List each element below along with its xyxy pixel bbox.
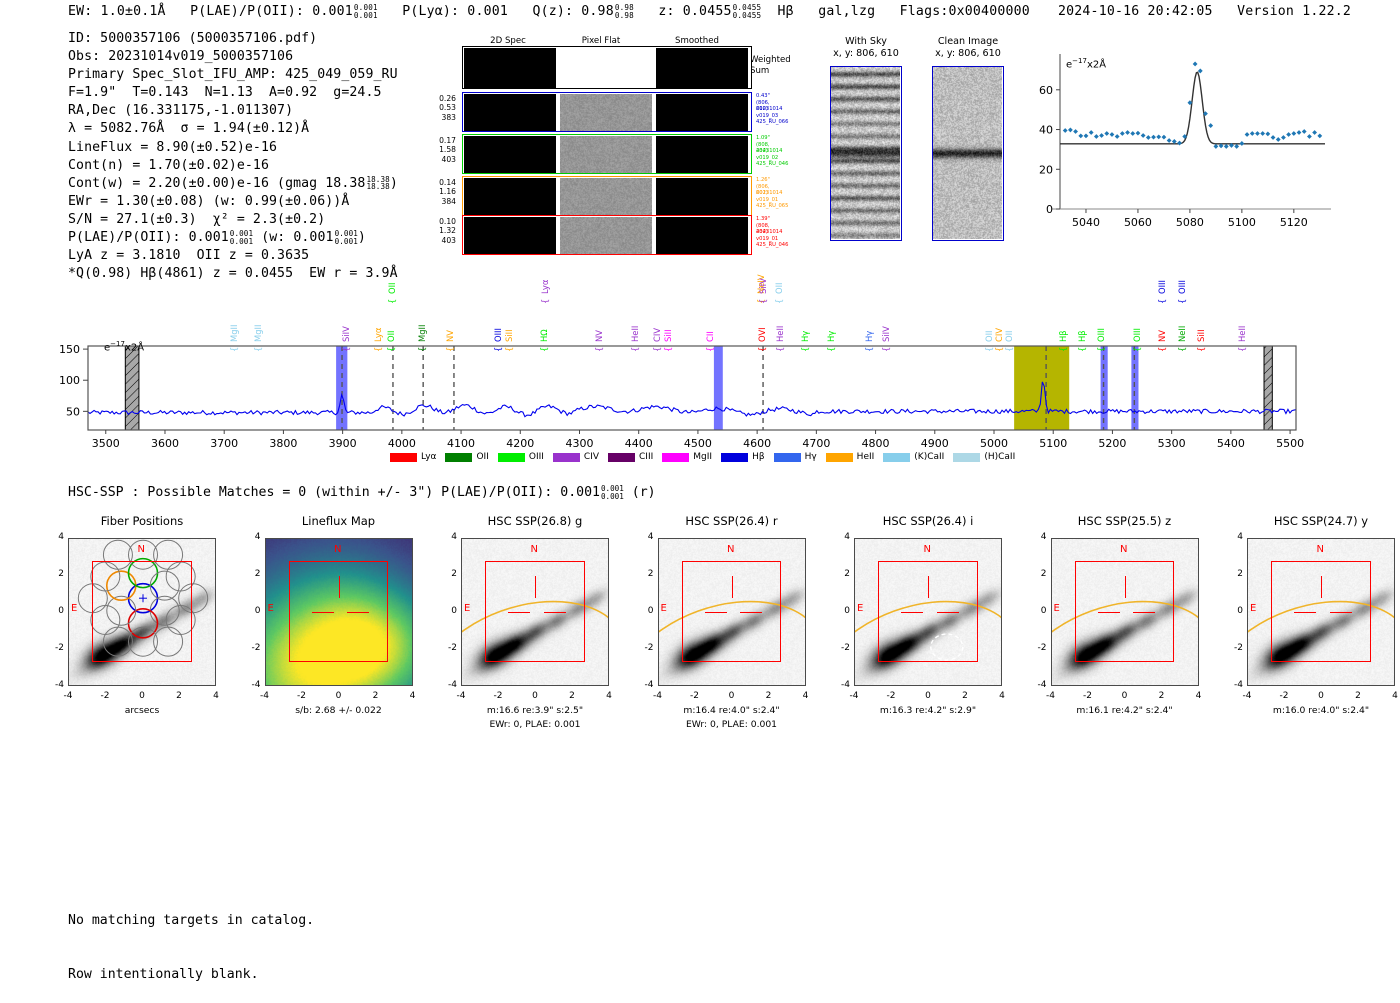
panel-xtick-5-2: -2 [881, 691, 901, 701]
panel-xtick-1-1: -4 [58, 691, 78, 701]
spectrum-line-label-16: SiII [663, 329, 673, 342]
exposure-smoothed-1 [656, 94, 748, 131]
panel-caption-2: s/b: 2.68 +/- 0.022 [239, 705, 439, 716]
svg-text:5200: 5200 [1098, 437, 1126, 450]
exposure-smoothed-2 [656, 136, 748, 173]
panel-ytick-6-3: 0 [1031, 606, 1047, 616]
info-plae-range: 0.0010.001 [230, 230, 253, 245]
info-seeing: F=1.9" T=0.143 N=1.13 A=0.92 g=24.5 [68, 84, 398, 102]
panel-north-label-2: N [334, 544, 341, 555]
spectrum-line-label-7: MgII [417, 325, 427, 342]
panel-ytick-3-5: -4 [441, 680, 457, 690]
panel-xtick-5-1: -4 [844, 691, 864, 701]
panel-ytick-6-1: 4 [1031, 532, 1047, 542]
panel-crosshair-h2-6 [1133, 612, 1155, 613]
svg-text:5000: 5000 [980, 437, 1008, 450]
spectrum-line-label-35: NV [1157, 330, 1167, 342]
svg-text:5100: 5100 [1228, 216, 1256, 229]
legend-label-2: OII [476, 452, 488, 462]
panel-ytick-1-3: 0 [48, 606, 64, 616]
exposure-tick-2-2: 1.58 [404, 145, 456, 154]
legend-swatch-7 [721, 453, 748, 462]
exposure-pixelflat-2 [560, 136, 652, 173]
exposure-meta-1-3: 20231014 [756, 106, 782, 112]
panel-crosshair-h2-7 [1330, 612, 1352, 613]
spectrum-line-label-23: Hγ [800, 331, 810, 342]
spectrum-line-label-36: OIII [1177, 280, 1187, 294]
panel-xtick-1-4: 2 [169, 691, 189, 701]
panel-title-4: HSC SSP(26.4) r [638, 514, 826, 528]
panel-north-label-4: N [727, 544, 734, 555]
spectrum-line-label-22: HeII [775, 326, 785, 342]
spectrum-line-brace-21: { [774, 299, 784, 304]
panel-ytick-5-2: 2 [834, 569, 850, 579]
panel-xtick-3-2: -2 [488, 691, 508, 701]
spectrum-line-brace-10: { [504, 347, 514, 352]
panel-xtick-2-5: 4 [403, 691, 423, 701]
panel-ytick-3-2: 2 [441, 569, 457, 579]
exposure-tick-4-1: 0.10 [404, 217, 456, 226]
spectrum-line-label-17: CII [705, 331, 715, 342]
cutout-title-1: With Sky [812, 36, 920, 47]
info-ewr: EWr = 1.30(±0.08) (w: 0.99(±0.06))Å [68, 193, 398, 211]
info-id: ID: 5000357106 (5000357106.pdf) [68, 30, 398, 48]
exposure-meta-4-4: v019_01 [756, 236, 778, 242]
legend-swatch-8 [774, 453, 801, 462]
spectrum-line-brace-34: { [1157, 299, 1167, 304]
spectrum-line-brace-17: { [705, 347, 715, 352]
panel-ytick-6-4: -2 [1031, 643, 1047, 653]
spectrum-line-brace-20: { [757, 347, 767, 352]
svg-text:50: 50 [66, 405, 80, 418]
panel-crosshair-v-5 [928, 576, 929, 598]
svg-text:4900: 4900 [921, 437, 949, 450]
cutout-subtitle-1: x, y: 806, 610 [812, 48, 920, 59]
hsc-header-band: (r) [632, 485, 656, 500]
cutout-title-2: Clean Image [914, 36, 1022, 47]
svg-text:5500: 5500 [1276, 437, 1304, 450]
spectrum-line-brace-36: { [1177, 299, 1187, 304]
panel-caption-5: m:16.3 re:4.2" s:2.9" [828, 705, 1028, 716]
exposure-meta-3-4: v019_01 [756, 197, 778, 203]
svg-text:3900: 3900 [329, 437, 357, 450]
panel-xtick-7-5: 4 [1385, 691, 1400, 701]
panel-xtick-4-4: 2 [759, 691, 779, 701]
header-meta: 2024-10-16 20:42:05 Version 1.22.2 [1058, 4, 1351, 19]
panel-crosshair-h1-7 [1294, 612, 1316, 613]
spec2d-col-title-3: Smoothed [652, 36, 742, 46]
panel-xtick-6-4: 2 [1152, 691, 1172, 701]
legend-label-9: HeII [857, 452, 875, 462]
spectrum-line-brace-31: { [1077, 347, 1087, 352]
spectrum-line-brace-35: { [1157, 347, 1167, 352]
panel-east-label-7: E [1250, 603, 1256, 614]
info-lineflux: LineFlux = 8.90(±0.52)e-16 [68, 139, 398, 157]
panel-ytick-3-4: -2 [441, 643, 457, 653]
panel-crosshair-v-2 [339, 576, 340, 598]
spec2d-col-title-1: 2D Spec [463, 36, 553, 46]
panel-xtick-3-5: 4 [599, 691, 619, 701]
legend-item-4: CIV [553, 452, 599, 462]
line-fit-svg: 020406050405060508051005120 [1020, 40, 1360, 250]
spectrum-line-brace-33: { [1132, 347, 1142, 352]
info-slot: Primary Spec_Slot_IFU_AMP: 425_049_059_R… [68, 66, 398, 84]
legend-swatch-2 [445, 453, 472, 462]
exposure-row-1 [462, 92, 752, 132]
target-info-block: ID: 5000357106 (5000357106.pdf) Obs: 202… [68, 30, 398, 283]
panel-ytick-1-2: 2 [48, 569, 64, 579]
svg-text:4200: 4200 [506, 437, 534, 450]
exposure-tick-1-1: 0.26 [404, 94, 456, 103]
panel-crosshair-h2-3 [544, 612, 566, 613]
spectrum-line-brace-22: { [775, 347, 785, 352]
spectrum-line-brace-4: { [373, 347, 383, 352]
legend-item-6: MgII [662, 452, 712, 462]
header-datetime: 2024-10-16 20:42:05 [1058, 4, 1213, 19]
spectrum-line-brace-30: { [1058, 347, 1068, 352]
panel-ytick-4-1: 4 [638, 532, 654, 542]
svg-text:3600: 3600 [151, 437, 179, 450]
spectrum-line-brace-28: { [994, 347, 1004, 352]
panel-caption-3: m:16.6 re:3.9" s:2.5" [435, 705, 635, 716]
panel-xtick-6-5: 4 [1189, 691, 1209, 701]
exposure-smoothed-4 [656, 217, 748, 254]
info-quality: *Q(0.98) Hβ(4861) z = 0.0455 EW r = 3.9Å [68, 265, 398, 283]
header-class: gal,lzg [818, 4, 875, 19]
exposure-smoothed-3 [656, 178, 748, 215]
svg-text:5120: 5120 [1280, 216, 1308, 229]
header-z-range: 0.04550.0455 [733, 4, 762, 19]
spectrum-line-label-30: Hβ [1058, 330, 1068, 342]
legend-label-8: Hγ [805, 452, 817, 462]
panel-xtick-2-2: -2 [292, 691, 312, 701]
footer-line-2: Row intentionally blank. [68, 966, 314, 984]
exposure-row-2 [462, 134, 752, 174]
header-plae-range: 0.0010.001 [354, 4, 378, 19]
exposure-tick-2-3: 403 [404, 155, 456, 164]
exposure-meta-3-5: 425_RU_065 [756, 203, 788, 209]
weighted-sum-image-1 [464, 48, 556, 88]
svg-text:4000: 4000 [388, 437, 416, 450]
svg-text:5300: 5300 [1158, 437, 1186, 450]
exposure-meta-2-1: 1.09" [756, 135, 770, 141]
footer-note: No matching targets in catalog. Row inte… [68, 876, 314, 1003]
panel-xtick-7-1: -4 [1237, 691, 1257, 701]
header-line-id: Hβ [778, 4, 794, 19]
panel-crosshair-h2-2 [347, 612, 369, 613]
panel-ytick-1-4: -2 [48, 643, 64, 653]
spectrum-line-brace-25: { [864, 347, 874, 352]
legend-label-10: (K)CaII [914, 452, 944, 462]
legend-swatch-10 [883, 453, 910, 462]
legend-label-6: MgII [693, 452, 712, 462]
header-qz: Q(z): 0.98 [532, 4, 613, 19]
legend-item-10: (K)CaII [883, 452, 944, 462]
spectrum-line-brace-7: { [417, 347, 427, 352]
info-lambda: λ = 5082.76Å σ = 1.94(±0.12)Å [68, 120, 398, 138]
panel-xtick-1-5: 4 [206, 691, 226, 701]
exposure-meta-4-1: 1.39" [756, 216, 770, 222]
weighted-sum-label-1: Weighted [750, 55, 791, 65]
spec2d-col-title-2: Pixel Flat [556, 36, 646, 46]
panel-caption-1: arcsecs [42, 705, 242, 716]
panel-east-label-6: E [1054, 603, 1060, 614]
svg-text:5040: 5040 [1072, 216, 1100, 229]
panel-caption-7: m:16.0 re:4.0" s:2.4" [1221, 705, 1400, 716]
legend-swatch-3 [498, 453, 525, 462]
svg-text:60: 60 [1039, 84, 1053, 97]
panel-title-1: Fiber Positions [48, 514, 236, 528]
exposure-2dspec-4 [464, 217, 556, 254]
panel-crosshair-h1-2 [312, 612, 334, 613]
spectrum-line-label-33: OIII [1132, 328, 1142, 342]
spectrum-line-label-31: Hβ [1077, 330, 1087, 342]
panel-ytick-1-1: 4 [48, 532, 64, 542]
panel-xtick-7-3: 0 [1311, 691, 1331, 701]
legend-label-4: CIV [584, 452, 599, 462]
spectrum-line-brace-1: { [229, 347, 239, 352]
info-gmag-range: 18.3818.38 [366, 176, 389, 191]
spectrum-line-label-32: OIII [1096, 328, 1106, 342]
spectrum-line-label-12: HΩ [539, 329, 549, 342]
spectrum-line-label-28: CIV [994, 328, 1004, 342]
panel-crosshair-h1-6 [1098, 612, 1120, 613]
spectrum-line-brace-3: { [341, 347, 351, 352]
panel-title-7: HSC SSP(24.7) y [1227, 514, 1400, 528]
spectrum-line-label-26: SiIV [881, 326, 891, 342]
panel-title-6: HSC SSP(25.5) z [1031, 514, 1219, 528]
hsc-plae-range: 0.0010.001 [601, 485, 624, 500]
spectrum-line-label-25: Hγ [864, 331, 874, 342]
spectrum-line-brace-32: { [1096, 347, 1106, 352]
svg-text:4500: 4500 [684, 437, 712, 450]
spectrum-line-brace-38: { [1196, 347, 1206, 352]
panel-xtick-1-2: -2 [95, 691, 115, 701]
spectrum-line-brace-27: { [984, 347, 994, 352]
exposure-tick-1-3: 383 [404, 113, 456, 122]
panel-ytick-7-3: 0 [1227, 606, 1243, 616]
weighted-sum-label-2: Sum [750, 66, 769, 76]
panel-caption2-4: EWr: 0, PLAE: 0.001 [632, 719, 832, 730]
panel-ytick-2-4: -2 [245, 643, 261, 653]
panel-ytick-5-1: 4 [834, 532, 850, 542]
panel-ytick-2-1: 4 [245, 532, 261, 542]
spectrum-line-brace-23: { [800, 347, 810, 352]
legend-swatch-1 [390, 453, 417, 462]
panel-north-label-7: N [1317, 544, 1324, 555]
legend-item-5: CIII [608, 452, 653, 462]
exposure-tick-4-3: 403 [404, 236, 456, 245]
panel-east-label-3: E [464, 603, 470, 614]
spectrum-line-brace-37: { [1177, 347, 1187, 352]
header-z: z: 0.0455 [658, 4, 731, 19]
panel-xtick-3-3: 0 [525, 691, 545, 701]
panel-ytick-2-5: -4 [245, 680, 261, 690]
panel-ytick-3-1: 4 [441, 532, 457, 542]
panel-xtick-4-5: 4 [796, 691, 816, 701]
svg-text:0: 0 [1046, 203, 1053, 216]
panel-ytick-6-5: -4 [1031, 680, 1047, 690]
panel-east-label-5: E [857, 603, 863, 614]
header-ew: EW: 1.0±0.1Å [68, 4, 166, 19]
header-plya: P(Lyα): 0.001 [402, 4, 508, 19]
panel-crosshair-v-6 [1125, 576, 1126, 598]
spectrum-line-label-24: Hγ [826, 331, 836, 342]
spectrum-legend: LyαOIIOIIICIVCIIIMgIIHβHγHeII(K)CaII(H)C… [390, 452, 1024, 462]
spectrum-line-label-13: NV [594, 330, 604, 342]
spectrum-line-label-3: SiIV [341, 326, 351, 342]
spectrum-line-label-5: OII [386, 330, 396, 342]
svg-text:150: 150 [59, 343, 80, 356]
panel-xtick-6-2: -2 [1078, 691, 1098, 701]
cutout-image-2 [933, 67, 1002, 239]
spectrum-line-brace-13: { [594, 347, 604, 352]
spectrum-line-brace-29: { [1004, 347, 1014, 352]
panel-xtick-3-4: 2 [562, 691, 582, 701]
exposure-meta-1-1: 0.43" [756, 93, 770, 99]
panel-ytick-3-3: 0 [441, 606, 457, 616]
panel-crosshair-v-4 [732, 576, 733, 598]
exposure-meta-4-3: 20231014 [756, 229, 782, 235]
legend-label-3: OIII [529, 452, 544, 462]
exposure-meta-2-5: 425_RU_046 [756, 161, 788, 167]
legend-swatch-6 [662, 453, 689, 462]
line-fit-units-label: e−17x2Å [1066, 57, 1106, 70]
spectrum-line-brace-11: { [540, 299, 550, 304]
panel-xtick-2-3: 0 [329, 691, 349, 701]
legend-item-1: Lyα [390, 452, 436, 462]
panel-ytick-5-4: -2 [834, 643, 850, 653]
spectrum-line-brace-9: { [493, 347, 503, 352]
panel-ytick-5-5: -4 [834, 680, 850, 690]
exposure-row-3 [462, 176, 752, 216]
exposure-tick-1-2: 0.53 [404, 103, 456, 112]
exposure-pixelflat-4 [560, 217, 652, 254]
svg-text:5080: 5080 [1176, 216, 1204, 229]
panel-east-label-1: E [71, 603, 77, 614]
spectrum-line-brace-8: { [445, 347, 455, 352]
spectrum-line-label-20: OVI [757, 327, 767, 342]
panel-north-label-5: N [924, 544, 931, 555]
exposure-pixelflat-3 [560, 178, 652, 215]
spectrum-line-label-10: SiII [504, 329, 514, 342]
legend-item-9: HeII [826, 452, 875, 462]
footer-line-1: No matching targets in catalog. [68, 912, 314, 930]
panel-ytick-4-4: -2 [638, 643, 654, 653]
legend-item-2: OII [445, 452, 488, 462]
legend-item-11: (H)CaII [953, 452, 1015, 462]
panel-north-label-1: N [138, 544, 145, 555]
svg-text:40: 40 [1039, 124, 1053, 137]
exposure-tick-4-2: 1.32 [404, 226, 456, 235]
panel-ytick-2-3: 0 [245, 606, 261, 616]
panel-xtick-5-3: 0 [918, 691, 938, 701]
panel-caption-4: m:16.4 re:4.0" s:2.4" [632, 705, 832, 716]
panel-crosshair-h1-4 [705, 612, 727, 613]
spectrum-line-label-14: HeII [630, 326, 640, 342]
svg-text:20: 20 [1039, 163, 1053, 176]
info-redshifts: LyA z = 3.1810 OII z = 0.3635 [68, 247, 398, 265]
spectrum-line-brace-26: { [881, 347, 891, 352]
cutout-subtitle-2: x, y: 806, 610 [914, 48, 1022, 59]
exposure-meta-3-3: 20231014 [756, 190, 782, 196]
spectrum-line-label-29: OII [1004, 330, 1014, 342]
spectrum-line-label-34: OIII [1157, 280, 1167, 294]
spectrum-line-label-15: CIV [652, 328, 662, 342]
exposure-row-4 [462, 215, 752, 255]
exposure-meta-2-3: 20231014 [756, 148, 782, 154]
legend-label-7: Hβ [752, 452, 765, 462]
spectrum-line-label-8: NV [445, 330, 455, 342]
panel-ytick-1-5: -4 [48, 680, 64, 690]
info-cont-n: Cont(n) = 1.70(±0.02)e-16 [68, 157, 398, 175]
panel-xtick-6-3: 0 [1115, 691, 1135, 701]
legend-swatch-5 [608, 453, 635, 462]
svg-text:5060: 5060 [1124, 216, 1152, 229]
exposure-pixelflat-1 [560, 94, 652, 131]
panel-title-2: Lineflux Map [245, 514, 433, 528]
weighted-sum-image-3 [656, 48, 748, 88]
panel-north-label-3: N [531, 544, 538, 555]
panel-ytick-7-4: -2 [1227, 643, 1243, 653]
spectrum-line-label-19: SiIV [758, 278, 768, 294]
header-version: Version 1.22.2 [1237, 4, 1351, 19]
panel-crosshair-h2-4 [740, 612, 762, 613]
panel-crosshair-h2-5 [937, 612, 959, 613]
spectrum-line-brace-14: { [630, 347, 640, 352]
panel-xtick-5-5: 4 [992, 691, 1012, 701]
exposure-tick-2-1: 0.17 [404, 136, 456, 145]
cutout-image-1 [831, 67, 900, 239]
exposure-meta-1-4: v019_03 [756, 113, 778, 119]
svg-text:100: 100 [59, 374, 80, 387]
panel-ytick-7-5: -4 [1227, 680, 1243, 690]
panel-north-label-6: N [1120, 544, 1127, 555]
exposure-2dspec-2 [464, 136, 556, 173]
spectrum-line-label-6: OII [387, 282, 397, 294]
svg-text:4800: 4800 [862, 437, 890, 450]
info-cont-w: Cont(w) = 2.20(±0.00)e-16 (gmag 18.3818.… [68, 175, 398, 193]
spectrum-line-label-4: Lyα [373, 328, 383, 342]
spectrum-line-label-1: MgII [229, 325, 239, 342]
legend-item-7: Hβ [721, 452, 765, 462]
panel-ytick-7-2: 2 [1227, 569, 1243, 579]
hsc-header: HSC-SSP : Possible Matches = 0 (within +… [68, 485, 656, 500]
panel-crosshair-h1-5 [901, 612, 923, 613]
spectrum-line-label-27: OII [984, 330, 994, 342]
svg-text:3800: 3800 [269, 437, 297, 450]
header-flags: Flags:0x00400000 [900, 4, 1030, 19]
svg-text:5100: 5100 [1039, 437, 1067, 450]
info-plae-w-range: 0.0010.001 [335, 230, 358, 245]
svg-text:4400: 4400 [625, 437, 653, 450]
panel-xtick-4-3: 0 [722, 691, 742, 701]
svg-text:3700: 3700 [210, 437, 238, 450]
panel-title-3: HSC SSP(26.8) g [441, 514, 629, 528]
spectrum-line-brace-6: { [387, 299, 397, 304]
hsc-header-text: HSC-SSP : Possible Matches = 0 (within +… [68, 485, 600, 500]
panel-crosshair-v-3 [535, 576, 536, 598]
panel-xtick-3-1: -4 [451, 691, 471, 701]
header-summary-line: EW: 1.0±0.1Å P(LAE)/P(OII): 0.0010.0010.… [68, 4, 1030, 19]
spectrum-line-brace-2: { [253, 347, 263, 352]
exposure-2dspec-1 [464, 94, 556, 131]
panel-xtick-4-1: -4 [648, 691, 668, 701]
spectrum-line-brace-12: { [539, 347, 549, 352]
legend-label-1: Lyα [421, 452, 436, 462]
exposure-2dspec-3 [464, 178, 556, 215]
svg-text:3500: 3500 [92, 437, 120, 450]
